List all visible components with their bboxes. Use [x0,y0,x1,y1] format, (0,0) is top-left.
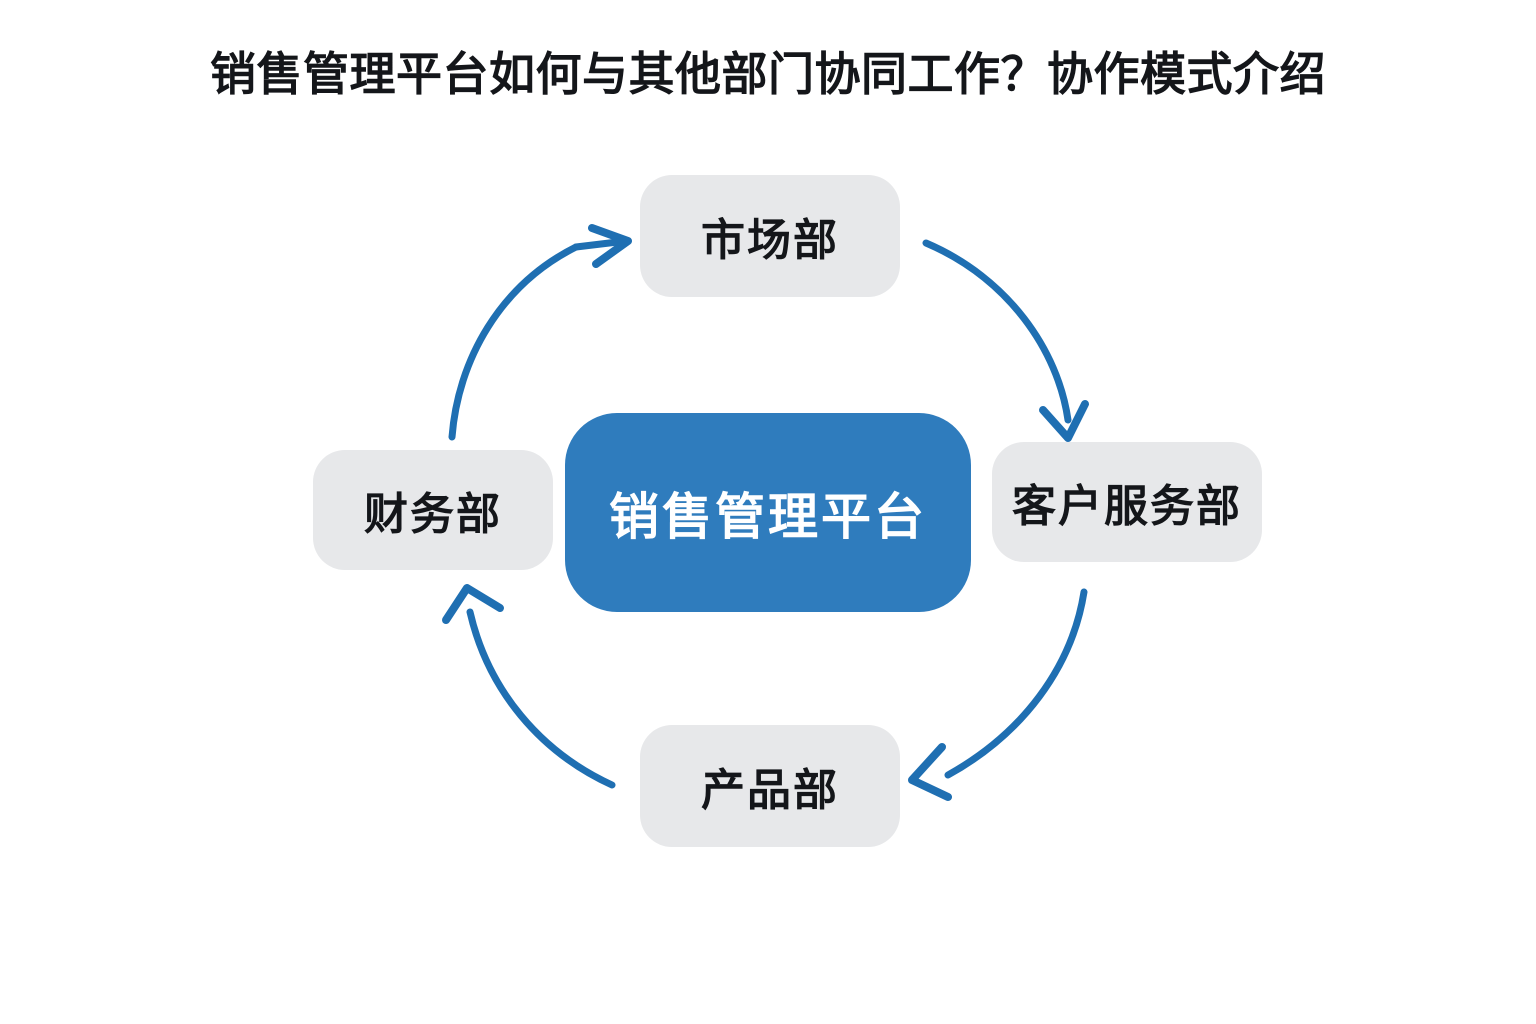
node-customer-service-label: 客户服务部 [1012,470,1242,534]
collaboration-cycle-diagram: 市场部 客户服务部 产品部 财务部 销售管理平台 [0,0,1536,1024]
node-product-label: 产品部 [701,754,839,818]
arrow-product-to-finance [446,588,612,785]
slide-canvas: 销售管理平台如何与其他部门协同工作？协作模式介绍 [0,0,1536,1024]
node-product[interactable]: 产品部 [640,725,900,847]
node-marketing[interactable]: 市场部 [640,175,900,297]
node-marketing-label: 市场部 [701,204,839,268]
arrow-service-to-product [912,592,1084,797]
node-finance[interactable]: 财务部 [313,450,553,570]
node-finance-label: 财务部 [364,478,502,542]
node-sales-management-platform[interactable]: 销售管理平台 [565,413,971,612]
arrow-marketing-to-service [926,243,1085,438]
node-sales-management-platform-label: 销售管理平台 [609,477,927,549]
node-customer-service[interactable]: 客户服务部 [992,442,1262,562]
arrow-finance-to-marketing [452,228,628,437]
